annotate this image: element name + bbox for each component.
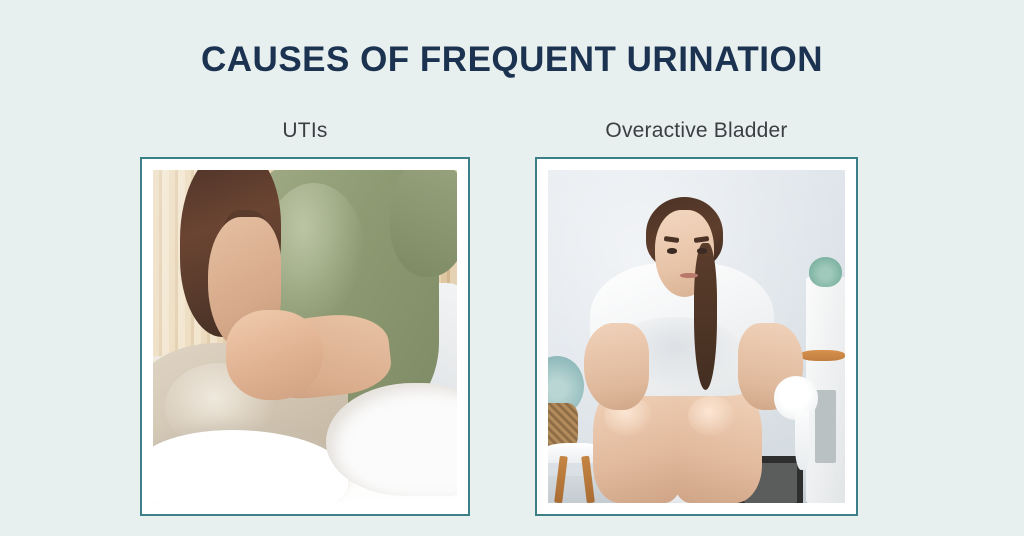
woman-hair-ponytail — [694, 243, 718, 390]
tshirt-sleeve — [390, 170, 457, 277]
infographic-canvas: CAUSES OF FREQUENT URINATION UTIs — [0, 0, 1024, 536]
photo-frame-utis — [140, 157, 470, 516]
photo-frame-overactive-bladder — [535, 157, 858, 516]
photo-utis — [153, 170, 457, 503]
right-eye — [697, 248, 708, 253]
hand-on-abdomen — [226, 310, 323, 400]
succulent-plant-icon — [809, 257, 842, 287]
photo-overactive-bladder — [548, 170, 845, 503]
left-arm — [584, 323, 649, 410]
wooden-stool-top — [800, 350, 845, 361]
left-eye — [667, 248, 678, 253]
panel-overactive-bladder: Overactive Bladder — [535, 118, 858, 516]
panel-label-utis: UTIs — [140, 118, 470, 148]
page-title: CAUSES OF FREQUENT URINATION — [0, 40, 1024, 80]
shelf-opening — [815, 390, 836, 463]
panel-label-overactive-bladder: Overactive Bladder — [535, 118, 858, 148]
mouth — [680, 273, 698, 278]
toilet-paper-sheet — [795, 410, 810, 470]
panel-utis: UTIs — [140, 118, 470, 516]
